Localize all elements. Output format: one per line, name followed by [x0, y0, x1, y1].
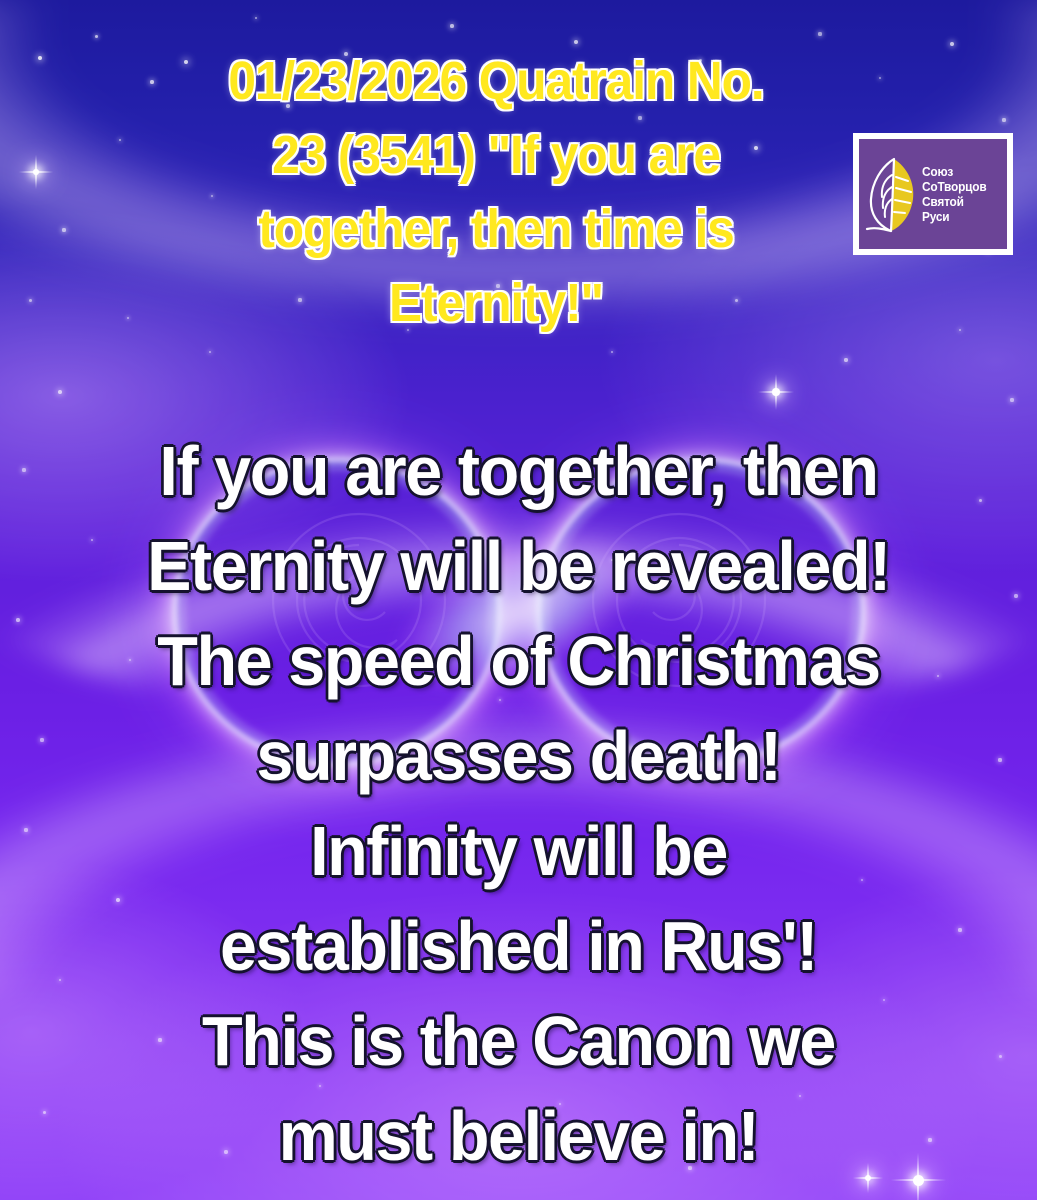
star-ray-vertical: [35, 148, 37, 196]
organization-logo[interactable]: Союз СоТворцов Святой Руси: [853, 133, 1013, 255]
star: [33, 169, 39, 175]
star-ray-vertical: [775, 367, 777, 417]
star: [844, 358, 847, 361]
logo-word-1: Союз: [922, 165, 999, 179]
title-line-2: 23 (3541) "If you are: [128, 118, 864, 192]
star: [209, 351, 212, 354]
star: [22, 468, 25, 471]
star: [959, 329, 962, 332]
star: [1014, 594, 1017, 597]
quatrain-body-text: If you are together, then Eternity will …: [40, 424, 997, 1184]
star: [999, 1055, 1002, 1058]
logo-text-block: Союз СоТворцов Святой Руси: [922, 165, 1003, 224]
logo-word-3: Святой: [922, 195, 999, 209]
star-ray-horizontal: [751, 391, 801, 393]
title-line-3: together, then time is: [128, 192, 864, 266]
body-line-1: If you are together, then: [64, 424, 973, 519]
star: [998, 758, 1001, 761]
logo-word-2: СоТворцов: [922, 180, 999, 194]
star: [16, 618, 20, 622]
star: [950, 42, 954, 46]
star: [95, 35, 98, 38]
star: [450, 24, 454, 28]
body-line-6: established in Rus'!: [64, 899, 973, 994]
bright-star: [772, 388, 779, 395]
bright-star: [33, 169, 40, 176]
star: [24, 828, 27, 831]
star: [58, 390, 62, 394]
body-line-7: This is the Canon we: [64, 994, 973, 1089]
star-ray-horizontal: [12, 171, 60, 173]
star: [29, 299, 32, 302]
star: [611, 351, 614, 354]
logo-panel: Союз СоТворцов Святой Руси: [859, 139, 1007, 249]
poster-title: 01/23/2026 Quatrain No. 23 (3541) "If yo…: [96, 44, 896, 340]
star: [255, 17, 258, 20]
logo-word-4: Руси: [922, 210, 999, 224]
body-line-4: surpasses death!: [64, 709, 973, 804]
quatrain-poster: 01/23/2026 Quatrain No. 23 (3541) "If yo…: [0, 0, 1037, 1200]
body-line-5: Infinity will be: [64, 804, 973, 899]
body-line-8: must believe in!: [64, 1089, 973, 1184]
body-line-3: The speed of Christmas: [64, 614, 973, 709]
star: [62, 228, 65, 231]
star: [38, 56, 42, 60]
leaf-icon: [863, 155, 919, 233]
star: [1002, 118, 1005, 121]
star: [1010, 398, 1013, 401]
body-line-2: Eternity will be revealed!: [64, 519, 973, 614]
title-line-4: Eternity!": [128, 266, 864, 340]
star: [818, 32, 821, 35]
title-line-1: 01/23/2026 Quatrain No.: [128, 44, 864, 118]
